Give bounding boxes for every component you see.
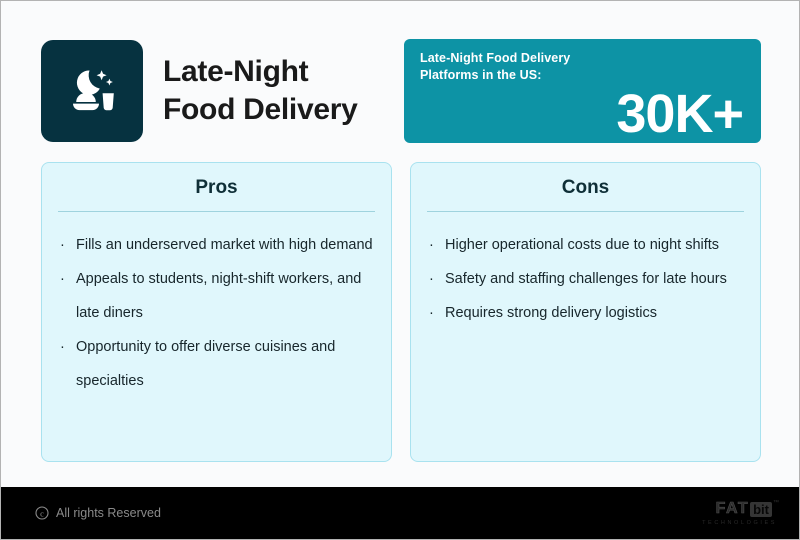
logo-wordmark: FAT bit ™ (716, 500, 779, 518)
bullet-icon: · (60, 228, 65, 262)
bullet-icon: · (429, 296, 434, 330)
copyright-icon: c (35, 506, 49, 520)
logo-badge-text: bit (750, 502, 772, 517)
list-item: ·Opportunity to offer diverse cuisines a… (58, 330, 375, 398)
bullet-icon: · (429, 228, 434, 262)
list-item: ·Appeals to students, night-shift worker… (58, 262, 375, 330)
pros-panel-title: Pros (58, 177, 375, 211)
moon-meal-icon (64, 63, 120, 119)
brand-block: Late-Night Food Delivery (41, 39, 357, 143)
svg-text:c: c (40, 508, 44, 518)
list-item-label: Requires strong delivery logistics (445, 305, 657, 321)
list-item-label: Safety and staffing challenges for late … (445, 271, 727, 287)
moon-meal-icon-tile (41, 40, 143, 142)
list-item-label: Fills an underserved market with high de… (76, 237, 373, 253)
list-item: ·Higher operational costs due to night s… (427, 228, 744, 262)
footer-bar: c All rights Reserved FAT bit ™ TECHNOLO… (1, 487, 800, 539)
cons-panel-divider (427, 211, 744, 212)
list-item-label: Appeals to students, night-shift workers… (76, 271, 361, 321)
pros-list: ·Fills an underserved market with high d… (58, 228, 375, 398)
cons-panel: Cons ·Higher operational costs due to ni… (410, 162, 761, 462)
list-item-label: Opportunity to offer diverse cuisines an… (76, 339, 335, 389)
list-item-label: Higher operational costs due to night sh… (445, 237, 719, 253)
logo-subtitle: TECHNOLOGIES (702, 520, 777, 526)
header: Late-Night Food Delivery Late-Night Food… (41, 39, 761, 143)
stat-value: 30K+ (616, 87, 743, 141)
pros-cons-section: Pros ·Fills an underserved market with h… (41, 162, 761, 462)
bullet-icon: · (429, 262, 434, 296)
list-item: ·Safety and staffing challenges for late… (427, 262, 744, 296)
infographic-canvas: Late-Night Food Delivery Late-Night Food… (0, 0, 800, 540)
stat-label: Late-Night Food Delivery Platforms in th… (420, 50, 745, 83)
list-item: ·Requires strong delivery logistics (427, 296, 744, 330)
copyright-text: All rights Reserved (56, 506, 161, 520)
page-title: Late-Night Food Delivery (163, 53, 357, 129)
copyright-block: c All rights Reserved (35, 506, 161, 520)
logo-trademark-icon: ™ (773, 500, 779, 506)
cons-panel-title: Cons (427, 177, 744, 211)
stat-card: Late-Night Food Delivery Platforms in th… (404, 39, 761, 143)
list-item: ·Fills an underserved market with high d… (58, 228, 375, 262)
cons-list: ·Higher operational costs due to night s… (427, 228, 744, 330)
bullet-icon: · (60, 330, 65, 364)
fatbit-logo: FAT bit ™ TECHNOLOGIES (702, 500, 779, 526)
bullet-icon: · (60, 262, 65, 296)
logo-primary-text: FAT (716, 500, 750, 518)
pros-panel: Pros ·Fills an underserved market with h… (41, 162, 392, 462)
pros-panel-divider (58, 211, 375, 212)
